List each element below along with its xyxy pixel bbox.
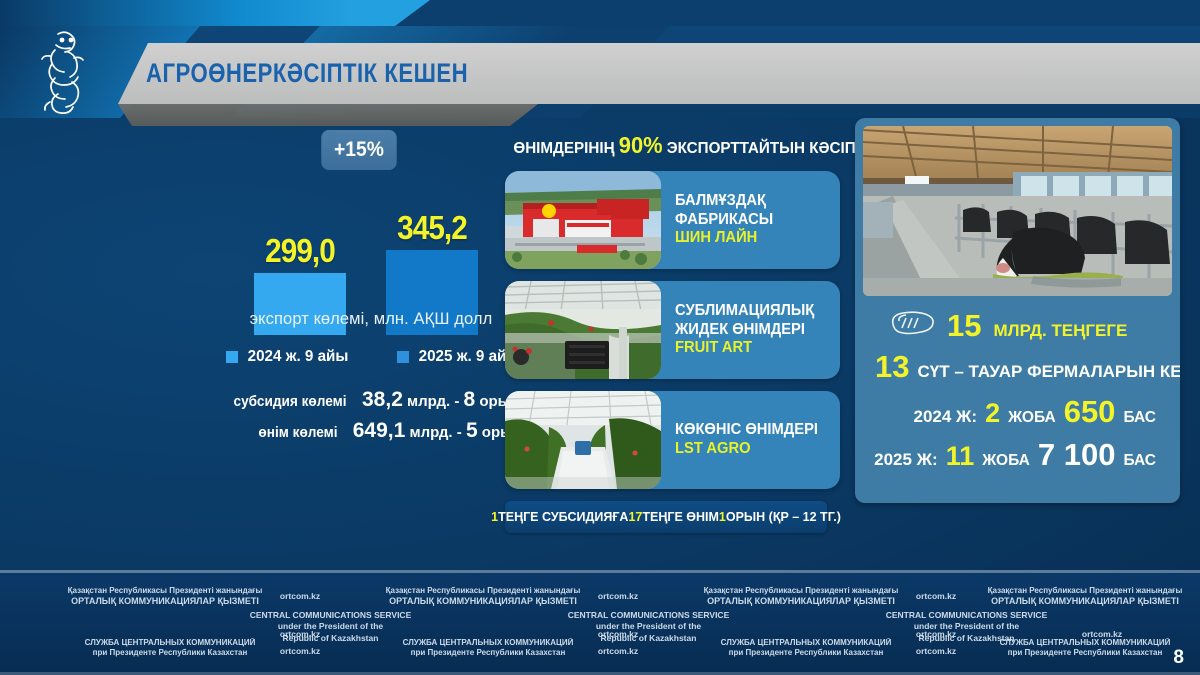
stat-dash-subsidy: -	[454, 393, 459, 410]
vegetable-greenhouse-photo	[505, 391, 661, 489]
enterprise-line1-3: КӨКӨНІС ӨНІМДЕРІ	[675, 421, 818, 440]
footer-ru-line1-4: СЛУЖБА ЦЕНТРАЛЬНЫХ КОММУНИКАЦИЙ	[960, 638, 1200, 648]
footer-url-text-4: ortcom.kz	[598, 591, 638, 601]
footer-en-line1-1: CENTRAL COMMUNICATIONS SERVICE	[208, 610, 453, 621]
title-ribbon: АГРОӨНЕРКӘСІПТІК КЕШЕН	[118, 43, 1200, 104]
slide-root: АГРОӨНЕРКӘСІПТІК КЕШЕН +15% 299,0 345,2 …	[0, 0, 1200, 675]
livestock-row-investment: 15 МЛРД. ТЕҢГЕГЕ	[873, 310, 1162, 341]
exporters-heading-percent: 90%	[619, 132, 663, 158]
stat-unit-output: млрд.	[409, 424, 452, 441]
stat-unit-subsidy: млрд.	[407, 393, 450, 410]
enterprise-card-text-3: КӨКӨНІС ӨНІМДЕРІ LST AGRO	[661, 421, 826, 459]
footer-url-text-7: ortcom.kz	[916, 591, 956, 601]
subsidy-ratio-part-5: 1	[719, 510, 726, 524]
footer-ru-line2-4: при Президенте Республики Казахстан	[960, 648, 1200, 658]
subsidy-ratio-part-6: ОРЫН (ҚР – 12 ТГ.)	[726, 510, 841, 524]
legend-label-2024: 2024 ж. 9 айы	[248, 348, 349, 366]
projects-word-2024: ЖОБА	[1008, 409, 1056, 427]
projects-2024: 2	[985, 401, 1000, 425]
footer-en-line1-4: CENTRAL COMMUNICATIONS SERVICE	[1162, 610, 1200, 621]
stat-rank-output: 5	[466, 419, 478, 442]
ice-cream-factory-photo	[505, 171, 661, 269]
heads-2024: 650	[1064, 398, 1116, 426]
footer-top-rule	[0, 570, 1200, 573]
year-label-2025: 2025 Ж:	[874, 450, 938, 470]
year-label-2024: 2024 Ж:	[913, 407, 977, 427]
subsidy-ratio-banner: 1 ТЕҢГЕ СУБСИДИЯҒА 17 ТЕҢГЕ ӨНІМ 1 ОРЫН …	[505, 501, 827, 533]
livestock-row-2025: 2025 Ж: 11 ЖОБА 7 100 БАС	[873, 441, 1162, 470]
footer-url-text-9: ortcom.kz	[916, 646, 956, 656]
projects-word-2025: ЖОБА	[982, 452, 1030, 470]
footer-kz-line2-4: ОРТАЛЫҚ КОММУНИКАЦИЯЛАР ҚЫЗМЕТІ	[960, 596, 1200, 607]
footer-kz-block-4: Қазақстан Республикасы Президенті жанынд…	[960, 586, 1200, 607]
subsidy-ratio-part-3: 17	[628, 510, 642, 524]
top-decor-band	[0, 0, 1200, 26]
legend-item-2025: 2025 ж. 9 айы	[397, 348, 522, 366]
subsidy-ratio-part-2: ТЕҢГЕ СУБСИДИЯҒА	[498, 510, 628, 524]
steak-icon	[887, 310, 935, 336]
footer-en-line2-4: under the President of the	[1162, 621, 1200, 632]
legend-item-2024: 2024 ж. 9 айы	[226, 348, 351, 366]
slide-content: +15% 299,0 345,2 экспорт көлемі, млн. АҚ…	[0, 118, 1200, 570]
footer-url-text-1: ortcom.kz	[280, 591, 320, 601]
kazakhstan-snow-leopard-emblem	[28, 28, 100, 116]
footer-url-6: ortcom.kz	[576, 646, 660, 657]
stat-value-subsidy: 38,2 млрд. - 8 орын	[362, 388, 520, 412]
exporters-heading: ӨНІМДЕРІНІҢ 90% ЭКСПОРТТАЙТЫН КӘСІПОРЫНД…	[513, 132, 831, 159]
footer-en-line2-1: under the President of the	[208, 621, 453, 632]
stat-key-subsidy: субсидия көлемі	[226, 394, 358, 410]
enterprise-brand-3: LST AGRO	[675, 440, 818, 459]
stat-dash-output: -	[457, 424, 462, 441]
footer-url-text-3: ortcom.kz	[280, 646, 320, 656]
footer-url-1: ortcom.kz	[258, 591, 342, 602]
stat-value-output: 649,1 млрд. - 5 орын	[353, 419, 522, 443]
footer-url-3: ortcom.kz	[258, 646, 342, 657]
farms-label: СҮТ – ТАУАР ФЕРМАЛАРЫН КЕҢЕЙТУ	[917, 362, 1180, 382]
footer-ru-block-4: СЛУЖБА ЦЕНТРАЛЬНЫХ КОММУНИКАЦИЙ при През…	[960, 638, 1200, 658]
subsidy-ratio-part-4: ТЕҢГЕ ӨНІМ	[642, 510, 719, 524]
footer-url-text-6: ortcom.kz	[598, 646, 638, 656]
enterprise-line1-2: СУБЛИМАЦИЯЛЫҚ	[675, 302, 814, 321]
stat-row-subsidy: субсидия көлемі 38,2 млрд. - 8 орын	[222, 388, 522, 412]
stat-rank-subsidy: 8	[464, 388, 476, 411]
dairy-cow-barn-photo	[863, 126, 1172, 296]
subsidy-ratio-part-1: 1	[491, 510, 498, 524]
export-chart: +15% 299,0 345,2 экспорт көлемі, млн. АҚ…	[222, 120, 518, 460]
page-title: АГРОӨНЕРКӘСІПТІК КЕШЕН	[146, 58, 468, 89]
livestock-row-farms: 13 СҮТ – ТАУАР ФЕРМАЛАРЫН КЕҢЕЙТУ	[873, 353, 1162, 382]
footer-url-4: ortcom.kz	[576, 591, 660, 602]
enterprise-card-lst-agro[interactable]: КӨКӨНІС ӨНІМДЕРІ LST AGRO	[505, 391, 840, 489]
strawberry-greenhouse-photo	[505, 281, 661, 379]
enterprise-card-shin-line[interactable]: БАЛМҰЗДАҚ ФАБРИКАСЫ ШИН ЛАЙН	[505, 171, 840, 269]
stat-key-output: өнім көлемі	[226, 425, 349, 441]
enterprise-card-text-2: СУБЛИМАЦИЯЛЫҚ ЖИДЕК ӨНІМДЕРІ FRUIT ART	[661, 302, 822, 359]
footer-kz-line1-2: Қазақстан Республикасы Президенті жанынд…	[386, 586, 581, 595]
enterprise-line2-1: ФАБРИКАСЫ	[675, 211, 773, 230]
heads-2025: 7 100	[1038, 441, 1116, 469]
investment-amount: 15	[947, 312, 981, 340]
chart-stats: субсидия көлемі 38,2 млрд. - 8 орын өнім…	[222, 388, 522, 450]
legend-swatch-2024	[226, 351, 238, 363]
enterprise-line1-1: БАЛМҰЗДАҚ	[675, 192, 773, 211]
heads-word-2024: БАС	[1123, 409, 1156, 427]
footer-kz-line1-3: Қазақстан Республикасы Президенті жанынд…	[704, 586, 899, 595]
heads-word-2025: БАС	[1123, 452, 1156, 470]
footer-watermark-strip: Қазақстан Республикасы Президенті жанынд…	[0, 570, 1200, 675]
enterprise-line2-2: ЖИДЕК ӨНІМДЕРІ	[675, 321, 814, 340]
enterprise-brand-1: ШИН ЛАЙН	[675, 229, 773, 248]
page-number: 8	[1173, 647, 1184, 669]
livestock-row-2024: 2024 Ж: 2 ЖОБА 650 БАС	[873, 398, 1162, 427]
legend-swatch-2025	[397, 351, 409, 363]
farms-count: 13	[875, 353, 909, 381]
bar-value-2024: 299,0	[259, 234, 342, 267]
footer-en-line1-3: CENTRAL COMMUNICATIONS SERVICE	[844, 610, 1089, 621]
bar-chart-plot: 299,0 345,2	[222, 120, 518, 335]
footer-kz-line1-4: Қазақстан Республикасы Президенті жанынд…	[988, 586, 1183, 595]
enterprise-brand-2: FRUIT ART	[675, 339, 814, 358]
enterprise-card-fruit-art[interactable]: СУБЛИМАЦИЯЛЫҚ ЖИДЕК ӨНІМДЕРІ FRUIT ART	[505, 281, 840, 379]
enterprise-card-text-1: БАЛМҰЗДАҚ ФАБРИКАСЫ ШИН ЛАЙН	[661, 192, 778, 249]
investment-unit: МЛРД. ТЕҢГЕГЕ	[993, 321, 1127, 341]
footer-kz-line1-1: Қазақстан Республикасы Президенті жанынд…	[68, 586, 263, 595]
projects-2025: 11	[946, 444, 975, 468]
exporters-heading-before: ӨНІМДЕРІНІҢ	[513, 140, 614, 157]
stat-row-output: өнім көлемі 649,1 млрд. - 5 орын	[222, 419, 522, 443]
livestock-panel: 15 МЛРД. ТЕҢГЕГЕ 13 СҮТ – ТАУАР ФЕРМАЛАР…	[855, 118, 1180, 503]
stat-amount-output: 649,1	[353, 419, 406, 442]
bar-value-2025: 345,2	[391, 211, 474, 244]
exporters-column: ӨНІМДЕРІНІҢ 90% ЭКСПОРТТАЙТЫН КӘСІПОРЫНД…	[505, 132, 840, 533]
livestock-stats: 15 МЛРД. ТЕҢГЕГЕ 13 СҮТ – ТАУАР ФЕРМАЛАР…	[863, 296, 1172, 470]
stat-amount-subsidy: 38,2	[362, 388, 403, 411]
chart-axis-label: экспорт көлемі, млн. АҚШ долл	[216, 310, 526, 329]
footer-en-line1-2: CENTRAL COMMUNICATIONS SERVICE	[526, 610, 771, 621]
chart-legend: 2024 ж. 9 айы 2025 ж. 9 айы	[226, 348, 522, 366]
